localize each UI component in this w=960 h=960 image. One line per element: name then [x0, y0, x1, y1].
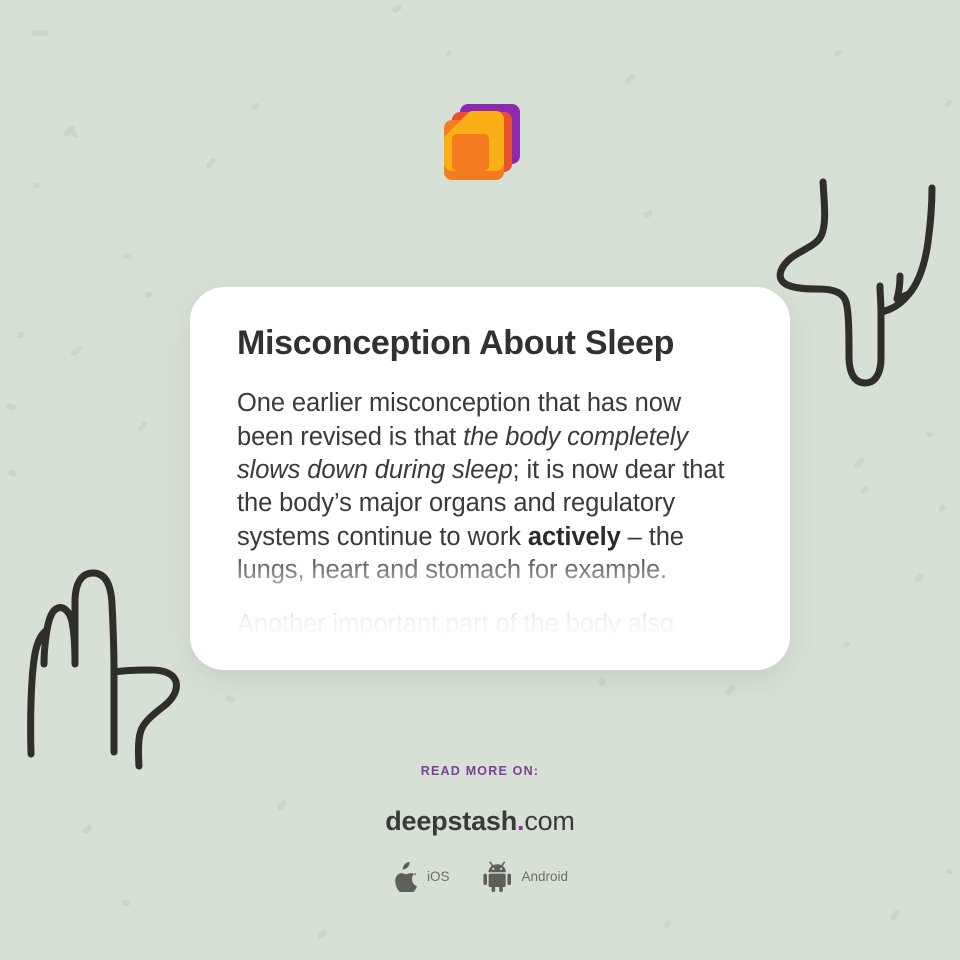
confetti-dash [145, 292, 152, 298]
android-store-label: Android [521, 869, 568, 884]
confetti-dash [843, 642, 850, 647]
confetti-dash [120, 899, 130, 907]
confetti-dash [724, 684, 736, 697]
confetti-dash [833, 48, 843, 58]
card-body-paragraph: One earlier misconception that has now b… [237, 387, 743, 587]
android-icon [483, 861, 512, 892]
confetti-dash [7, 468, 18, 477]
card-overflow-paragraph: Another important part of the body also [237, 608, 743, 641]
android-store-badge[interactable]: Android [483, 861, 568, 892]
confetti-dash [391, 4, 403, 15]
wordmark-tld: com [524, 806, 574, 836]
hand-pointing-down-right-icon [773, 176, 948, 396]
confetti-dash [913, 572, 924, 583]
idea-card[interactable]: Misconception About Sleep One earlier mi… [190, 287, 790, 670]
confetti-dash [926, 432, 933, 437]
card-content: Misconception About Sleep One earlier mi… [190, 287, 790, 642]
confetti-dash [70, 345, 84, 358]
confetti-dash [889, 909, 901, 922]
ios-store-label: iOS [427, 869, 450, 884]
confetti-dash [662, 919, 673, 929]
paragraph-bold: actively [528, 523, 621, 551]
confetti-dash [317, 928, 329, 940]
confetti-dash [597, 677, 607, 687]
confetti-dash [5, 403, 16, 411]
confetti-dash [224, 695, 235, 703]
deepstash-wordmark[interactable]: deepstash.com [0, 806, 960, 837]
read-more-label: READ MORE ON: [0, 764, 960, 778]
store-badges: iOS [0, 861, 960, 892]
confetti-dash [853, 456, 866, 470]
hand-pointing-up-left-icon [22, 560, 202, 785]
apple-icon [392, 862, 418, 892]
confetti-dash [643, 209, 654, 219]
confetti-dash [446, 51, 452, 56]
confetti-dash [122, 252, 132, 260]
confetti-dash [31, 30, 48, 37]
confetti-dash [937, 503, 947, 513]
confetti-dash [624, 73, 636, 86]
confetti-dash [137, 421, 148, 433]
confetti-dash [643, 212, 649, 217]
ios-store-badge[interactable]: iOS [392, 862, 450, 892]
confetti-dash [859, 485, 869, 495]
card-title: Misconception About Sleep [237, 323, 743, 363]
footer: READ MORE ON: deepstash.com iOS [0, 764, 960, 892]
wordmark-name: deepstash [385, 806, 517, 836]
deepstash-logo [0, 104, 960, 196]
confetti-dash [16, 330, 26, 340]
